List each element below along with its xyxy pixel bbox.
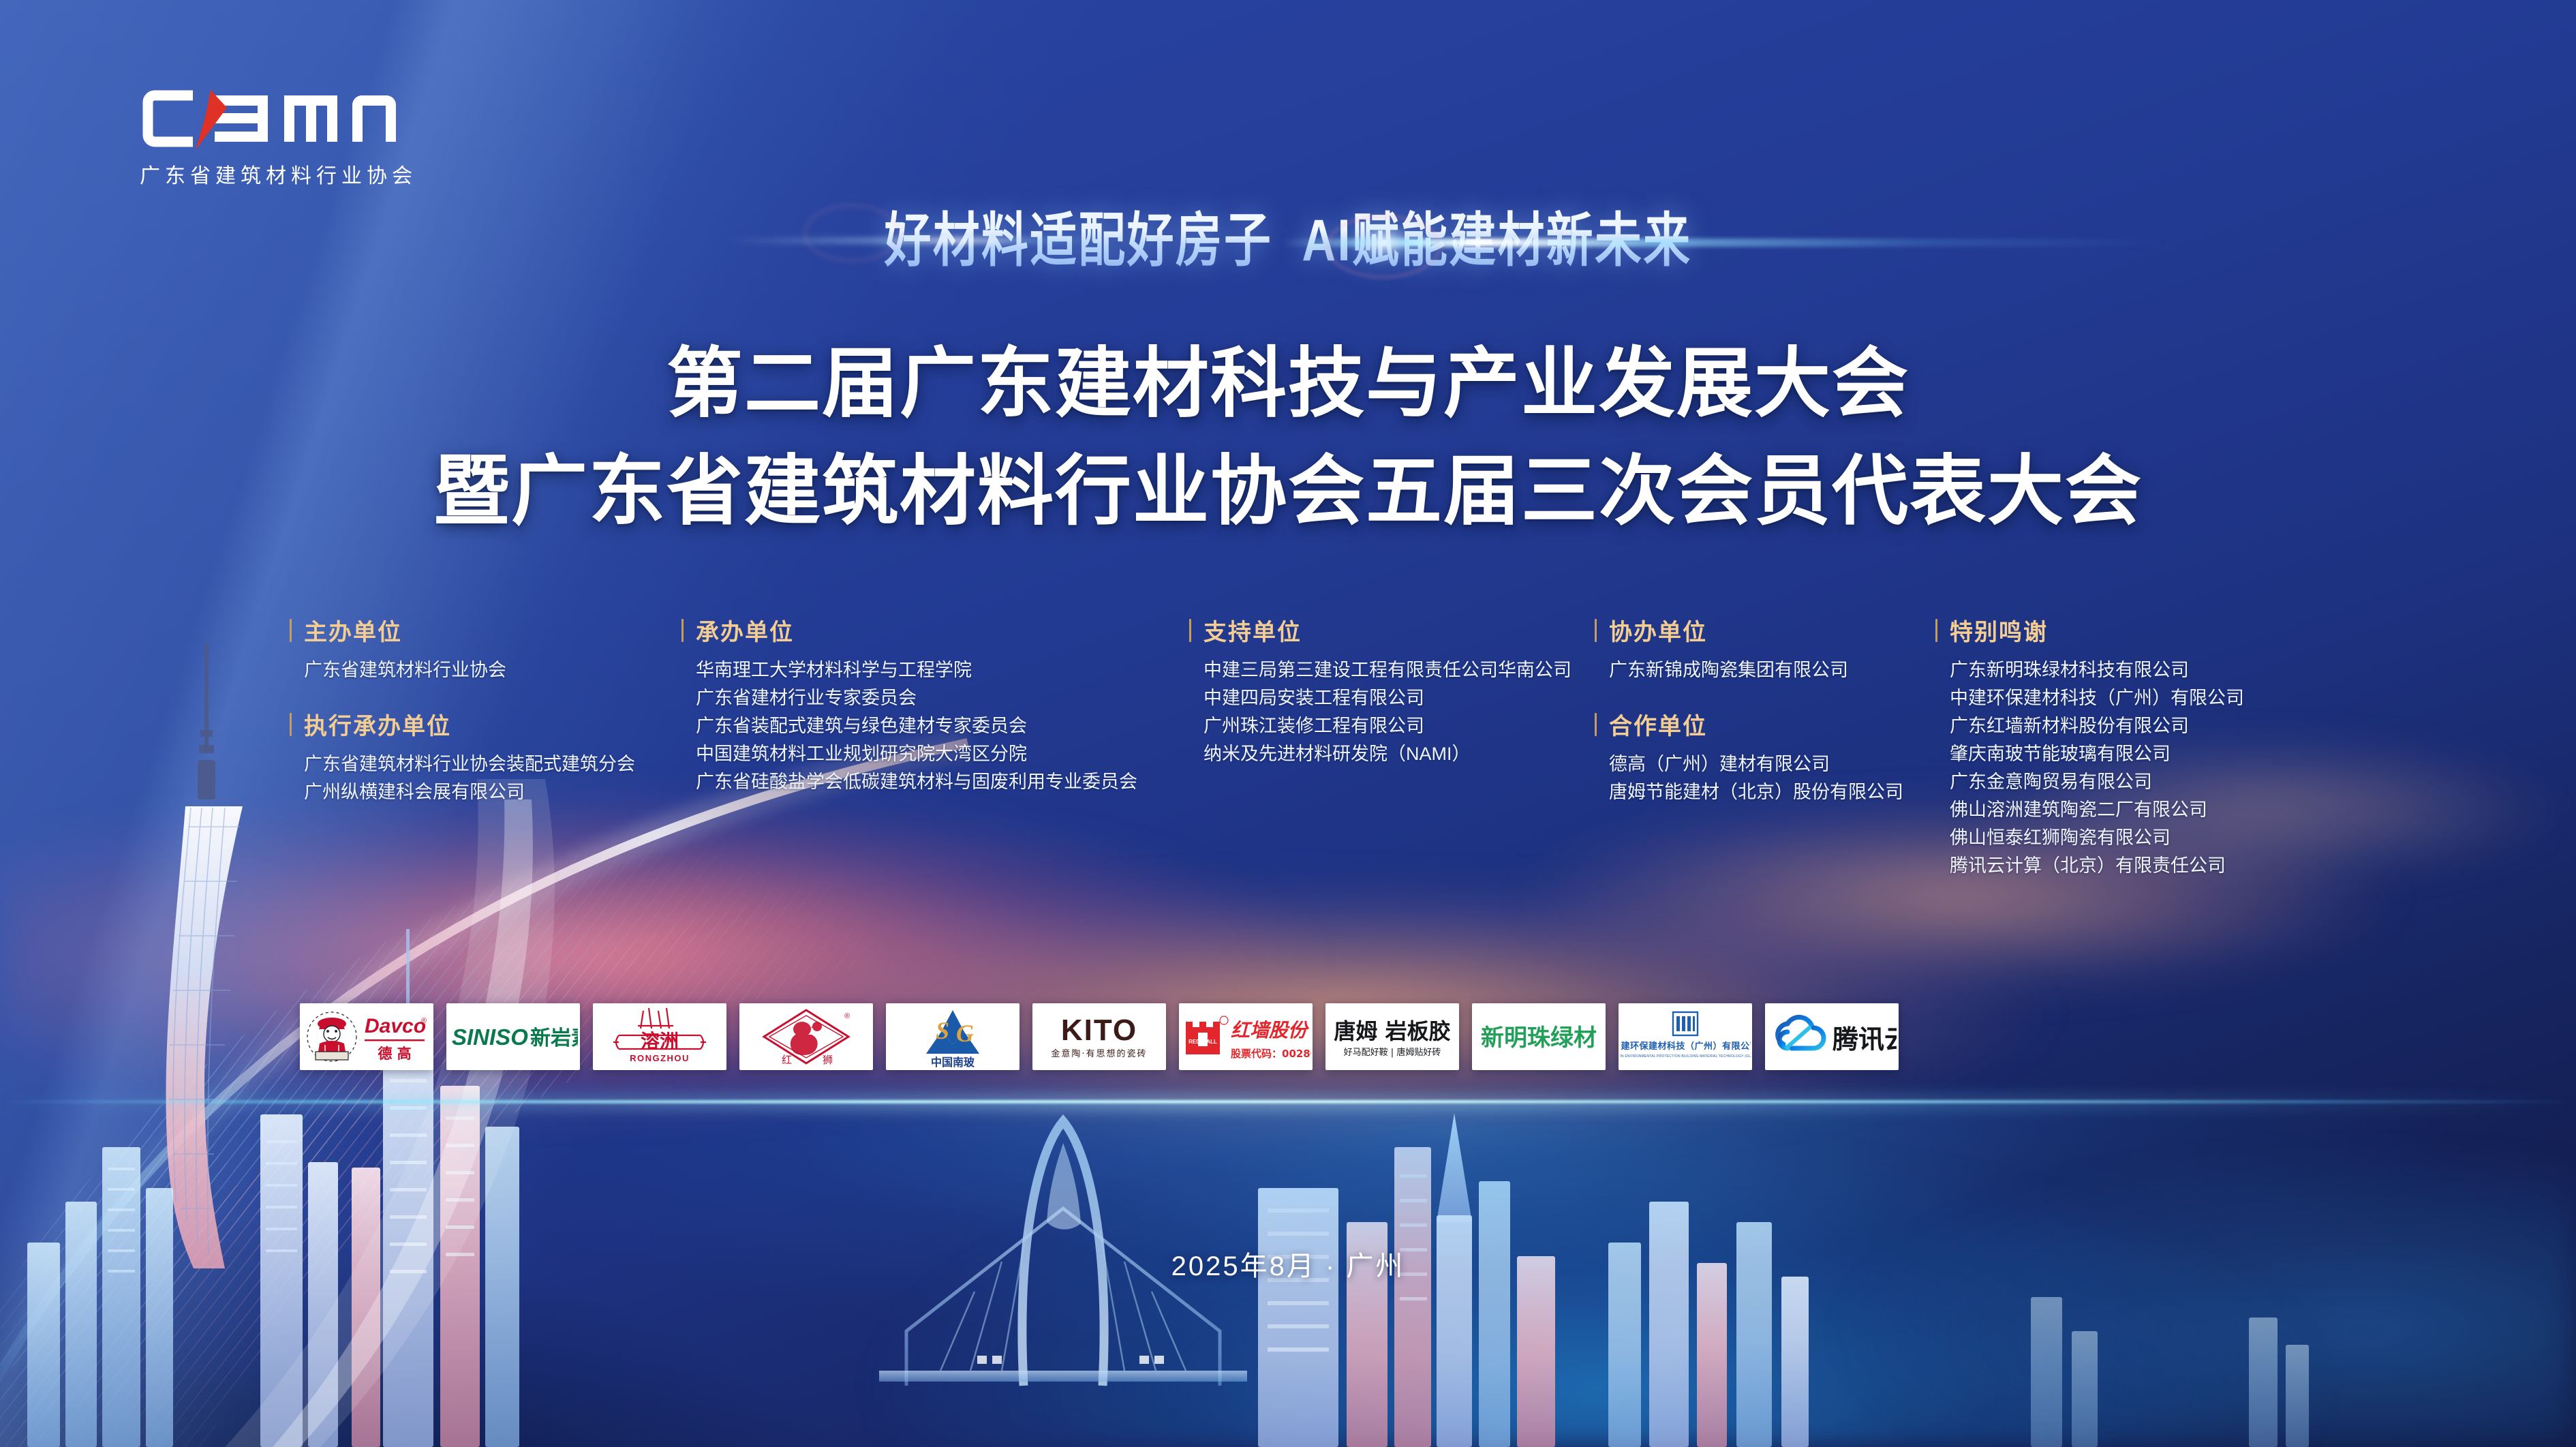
org-item: 华南理工大学材料科学与工程学院 [696,656,1186,684]
logo-subtitle: 广东省建筑材料行业协会 [140,159,460,189]
org-block-coorganizer: 协办单位 广东新锦成陶瓷集团有限公司 [1595,613,1935,684]
org-item: 广东新明珠绿材科技有限公司 [1950,656,2317,684]
org-block-partner: 合作单位 德高（广州）建材有限公司 唐姆节能建材（北京）股份有限公司 [1595,707,1935,806]
page-title-line1: 第二届广东建材科技与产业发展大会 [0,322,2576,432]
svg-text:腾讯云: 腾讯云 [1833,1024,1897,1054]
sponsor-logo-tencent-cloud: 腾讯云 [1765,1003,1899,1070]
org-item: 德高（广州）建材有限公司 [1609,750,1935,778]
sponsor-logo-rongzhou: 溶洲 RONGZHOU [593,1003,726,1070]
org-heading-row: 执行承办单位 [290,707,678,741]
org-heading: 支持单位 [1203,613,1302,647]
org-item: 唐姆节能建材（北京）股份有限公司 [1609,778,1935,806]
svg-text:红: 红 [782,1054,792,1066]
sponsor-logo-csg: S G 中国南玻 [886,1003,1019,1070]
cscec-logo-icon: 中建环保建材科技（广州）有限公司 CHINA CONSTRUCTION ENVI… [1620,1008,1751,1065]
svg-text:中建环保建材科技（广州）有限公司: 中建环保建材科技（广州）有限公司 [1620,1041,1751,1052]
org-item-list: 广东省建筑材料行业协会装配式建筑分会 广州纵横建科会展有限公司 [290,750,678,806]
sponsor-logo-tangmu: 唐姆 岩板胶 好马配好鞍 | 唐姆贴好砖 [1325,1003,1459,1070]
org-item: 广东红墙新材料股份有限公司 [1950,712,2317,740]
sponsor-logo-siniso: SINISO 新岩素 [446,1003,580,1070]
org-item-list: 广东新明珠绿材科技有限公司 中建环保建材科技（广州）有限公司 广东红墙新材料股份… [1935,656,2317,880]
event-date-location: 2025年8月 · 广州 [0,1244,2576,1283]
svg-text:股票代码：002809: 股票代码：002809 [1231,1048,1311,1060]
davco-logo-icon: Davco ® 德 高 [302,1005,431,1068]
org-block-host: 主办单位 广东省建筑材料行业协会 [290,613,678,684]
xinmingzhu-logo-icon: 新明珠绿材 [1474,1018,1604,1055]
org-item: 广东省建材行业专家委员会 [696,684,1186,712]
org-block-executive-host: 执行承办单位 广东省建筑材料行业协会装配式建筑分会 广州纵横建科会展有限公司 [290,707,678,806]
svg-text:好马配好鞍 | 唐姆贴好砖: 好马配好鞍 | 唐姆贴好砖 [1344,1047,1441,1058]
sponsor-logo-redwall: RED WALL 红墙股份 股票代码：002809 [1179,1003,1313,1070]
svg-text:S: S [936,1017,949,1044]
tagline-part2: AI赋能建材新未来 [1302,208,1691,273]
svg-text:唐姆 岩板胶: 唐姆 岩板胶 [1334,1018,1450,1044]
org-item: 广东省建筑材料行业协会 [304,656,678,684]
org-block-supporter: 支持单位 中建三局第三建设工程有限责任公司华南公司 中建四局安装工程有限公司 广… [1189,613,1612,768]
svg-text:德 高: 德 高 [378,1046,411,1062]
org-item: 佛山恒泰红狮陶瓷有限公司 [1950,824,2317,852]
heading-bar-icon [290,619,292,642]
org-item: 佛山溶洲建筑陶瓷二厂有限公司 [1950,796,2317,824]
tencent-cloud-logo-icon: 腾讯云 [1767,1013,1897,1061]
svg-text:RED WALL: RED WALL [1189,1039,1217,1045]
org-item: 中建环保建材科技（广州）有限公司 [1950,684,2317,712]
org-heading: 特别鸣谢 [1950,613,2048,647]
org-item-list: 德高（广州）建材有限公司 唐姆节能建材（北京）股份有限公司 [1595,750,1935,806]
org-heading: 承办单位 [696,613,794,647]
sponsor-logo-cscec: 中建环保建材科技（广州）有限公司 CHINA CONSTRUCTION ENVI… [1619,1003,1752,1070]
svg-text:KITO: KITO [1061,1014,1137,1047]
org-item-list: 广东新锦成陶瓷集团有限公司 [1595,656,1935,684]
org-heading: 执行承办单位 [304,707,451,741]
org-item: 纳米及先进材料研发院（NAMI） [1203,740,1612,768]
heading-bar-icon [1935,619,1937,642]
event-tagline: 好材料适配好房子AI赋能建材新未来 [258,192,2318,277]
org-heading-row: 合作单位 [1595,707,1935,741]
org-item-list: 中建三局第三建设工程有限责任公司华南公司 中建四局安装工程有限公司 广州珠江装修… [1189,656,1612,768]
svg-text:SINISO: SINISO [452,1024,528,1050]
org-item: 广东省装配式建筑与绿色建材专家委员会 [696,712,1186,740]
page-title-line2: 暨广东省建筑材料行业协会五届三次会员代表大会 [0,429,2576,540]
svg-text:G: G [956,1020,974,1047]
org-heading-row: 特别鸣谢 [1935,613,2317,647]
org-item: 广东省建筑材料行业协会装配式建筑分会 [304,750,678,778]
hongshi-logo-icon: ® 红 狮 [752,1006,861,1067]
kito-logo-icon: KITO 金意陶·有思想的瓷砖 [1034,1011,1164,1062]
org-heading: 协办单位 [1609,613,1707,647]
siniso-logo-icon: SINISO 新岩素 [448,1016,578,1057]
heading-bar-icon [681,619,684,642]
sponsor-logo-davco: Davco ® 德 高 [300,1003,433,1070]
organizer-column-4: 协办单位 广东新锦成陶瓷集团有限公司 合作单位 德高（广州）建材有限公司 唐姆节… [1595,613,1935,829]
org-heading-row: 协办单位 [1595,613,1935,647]
gbma-wordmark-icon [140,87,426,150]
heading-bar-icon [290,713,292,736]
svg-text:Davco: Davco [365,1015,426,1037]
org-item: 肇庆南玻节能玻璃有限公司 [1950,740,2317,768]
svg-text:金意陶·有思想的瓷砖: 金意陶·有思想的瓷砖 [1051,1048,1147,1059]
redwall-logo-icon: RED WALL 红墙股份 股票代码：002809 [1180,1008,1311,1065]
svg-text:新岩素: 新岩素 [530,1026,578,1050]
org-block-special-thanks: 特别鸣谢 广东新明珠绿材科技有限公司 中建环保建材科技（广州）有限公司 广东红墙… [1935,613,2317,880]
org-heading-row: 承办单位 [681,613,1186,647]
svg-text:中国南玻: 中国南玻 [931,1056,975,1067]
svg-text:®: ® [844,1012,850,1020]
rongzhou-logo-icon: 溶洲 RONGZHOU [598,1005,721,1068]
organizer-columns: 主办单位 广东省建筑材料行业协会 执行承办单位 广东省建筑材料行业协会装配式建筑… [0,613,2576,900]
org-item: 腾讯云计算（北京）有限责任公司 [1950,852,2317,880]
heading-bar-icon [1595,619,1597,642]
csg-logo-icon: S G 中国南玻 [902,1006,1004,1067]
org-item: 广东金意陶贸易有限公司 [1950,768,2317,796]
organizer-column-2: 承办单位 华南理工大学材料科学与工程学院 广东省建材行业专家委员会 广东省装配式… [681,613,1186,819]
organizer-column-5: 特别鸣谢 广东新明珠绿材科技有限公司 中建环保建材科技（广州）有限公司 广东红墙… [1935,613,2317,903]
svg-text:RONGZHOU: RONGZHOU [630,1053,690,1063]
org-item-list: 广东省建筑材料行业协会 [290,656,678,684]
horizon-glow-line [0,1100,2576,1103]
org-item: 广州纵横建科会展有限公司 [304,778,678,806]
svg-text:红墙股份: 红墙股份 [1231,1019,1310,1041]
org-heading: 合作单位 [1609,707,1707,741]
org-heading-row: 主办单位 [290,613,678,647]
org-heading-row: 支持单位 [1189,613,1612,647]
org-item-list: 华南理工大学材料科学与工程学院 广东省建材行业专家委员会 广东省装配式建筑与绿色… [681,656,1186,796]
svg-text:®: ® [421,1017,427,1025]
sponsor-logo-xinmingzhu: 新明珠绿材 [1472,1003,1606,1070]
sponsor-logo-kito: KITO 金意陶·有思想的瓷砖 [1032,1003,1166,1070]
sponsor-logo-hongshi: ® 红 狮 [739,1003,873,1070]
association-logo: 广东省建筑材料行业协会 [140,87,460,189]
org-item: 中国建筑材料工业规划研究院大湾区分院 [696,740,1186,768]
org-item: 中建四局安装工程有限公司 [1203,684,1612,712]
organizer-column-3: 支持单位 中建三局第三建设工程有限责任公司华南公司 中建四局安装工程有限公司 广… [1189,613,1612,791]
tangmu-logo-icon: 唐姆 岩板胶 好马配好鞍 | 唐姆贴好砖 [1328,1011,1457,1062]
org-item: 广东省硅酸盐学会低碳建筑材料与固废利用专业委员会 [696,768,1186,796]
organizer-column-1: 主办单位 广东省建筑材料行业协会 执行承办单位 广东省建筑材料行业协会装配式建筑… [290,613,678,829]
tagline-part1: 好材料适配好房子 [885,208,1273,273]
conference-backdrop: 广东省建筑材料行业协会 好材料适配好房子AI赋能建材新未来 第二届广东建材科技与… [0,0,2576,1447]
svg-text:狮: 狮 [823,1054,833,1066]
svg-text:CHINA CONSTRUCTION ENVIRONMENT: CHINA CONSTRUCTION ENVIRONMENTAL PROTECT… [1620,1054,1751,1058]
org-item: 广州珠江装修工程有限公司 [1203,712,1612,740]
heading-bar-icon [1189,619,1191,642]
org-block-organizer: 承办单位 华南理工大学材料科学与工程学院 广东省建材行业专家委员会 广东省装配式… [681,613,1186,796]
sponsor-logo-strip: Davco ® 德 高 SINISO 新岩素 [300,1003,1899,1070]
gbma-logo-mark [140,87,460,150]
svg-text:新明珠绿材: 新明珠绿材 [1481,1024,1597,1052]
org-heading: 主办单位 [304,613,402,647]
svg-text:溶洲: 溶洲 [641,1030,679,1052]
heading-bar-icon [1595,713,1597,736]
org-item: 中建三局第三建设工程有限责任公司华南公司 [1203,656,1612,684]
org-item: 广东新锦成陶瓷集团有限公司 [1609,656,1935,684]
